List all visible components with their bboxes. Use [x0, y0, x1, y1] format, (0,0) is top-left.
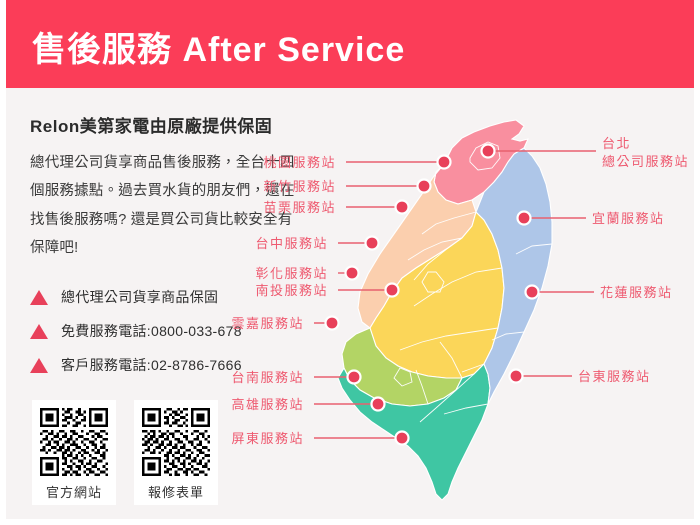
map-label-taoyuan[interactable]: 桃園服務站 — [263, 154, 336, 172]
bullet-label: 免費服務電話:0800-033-678 — [61, 321, 242, 341]
map-label-yilan[interactable]: 宜蘭服務站 — [592, 210, 665, 228]
map-label-taitung[interactable]: 台東服務站 — [578, 368, 651, 386]
qr-code-icon — [40, 408, 108, 476]
map-label-pingtung[interactable]: 屏東服務站 — [231, 430, 304, 448]
map-label-taipei-hq-line1: 台北 — [602, 135, 689, 153]
station-dot-changhua — [346, 267, 359, 280]
station-dot-nantou — [386, 284, 399, 297]
triangle-marker-icon — [30, 324, 48, 339]
after-service-page: 售後服務 After Service Relon美第家電由原廠提供保固 總代理公… — [0, 0, 700, 525]
bullet-label: 客戶服務電話:02-8786-7666 — [61, 355, 242, 375]
qr-code-icon — [142, 408, 210, 476]
repair-form-qr-card[interactable]: 報修表單 — [134, 400, 218, 505]
qr-code-label: 報修表單 — [142, 482, 210, 501]
station-dot-taipei-hq — [482, 145, 495, 158]
map-label-tainan[interactable]: 台南服務站 — [231, 369, 304, 387]
official-website-qr-card[interactable]: 官方網站 — [32, 400, 116, 505]
map-label-miaoli[interactable]: 苗栗服務站 — [263, 199, 336, 217]
station-dot-taichung — [366, 237, 379, 250]
page-header-banner: 售後服務 After Service — [0, 0, 700, 88]
triangle-marker-icon — [30, 358, 48, 373]
map-label-yunchia[interactable]: 雲嘉服務站 — [231, 315, 304, 333]
station-dot-hsinchu — [418, 180, 431, 193]
map-label-hualien[interactable]: 花蓮服務站 — [600, 284, 673, 302]
taiwan-service-map: 桃園服務站 新竹服務站 苗栗服務站 台中服務站 彰化服務站 南投服務站 雲嘉服務… — [276, 96, 700, 516]
qr-code-label: 官方網站 — [40, 482, 108, 501]
map-label-changhua[interactable]: 彰化服務站 — [255, 265, 328, 283]
station-dot-taitung — [510, 370, 523, 383]
map-label-hsinchu[interactable]: 新竹服務站 — [263, 178, 336, 196]
page-title: 售後服務 After Service — [32, 22, 405, 71]
station-dot-taoyuan — [438, 156, 451, 169]
map-label-nantou[interactable]: 南投服務站 — [255, 282, 328, 300]
map-label-taipei-hq[interactable]: 台北 總公司服務站 — [602, 135, 689, 170]
map-label-kaohsiung[interactable]: 高雄服務站 — [231, 396, 304, 414]
triangle-marker-icon — [30, 290, 48, 305]
station-dot-hualien — [526, 286, 539, 299]
station-dot-pingtung — [396, 432, 409, 445]
station-dot-yilan — [518, 212, 531, 225]
map-label-taipei-hq-line2: 總公司服務站 — [602, 153, 689, 171]
map-label-taichung[interactable]: 台中服務站 — [255, 235, 328, 253]
station-dot-yunchia — [326, 317, 339, 330]
bullet-label: 總代理公司貨享商品保固 — [61, 287, 218, 307]
station-dot-miaoli — [396, 201, 409, 214]
station-dot-tainan — [348, 371, 361, 384]
station-dot-kaohsiung — [372, 398, 385, 411]
